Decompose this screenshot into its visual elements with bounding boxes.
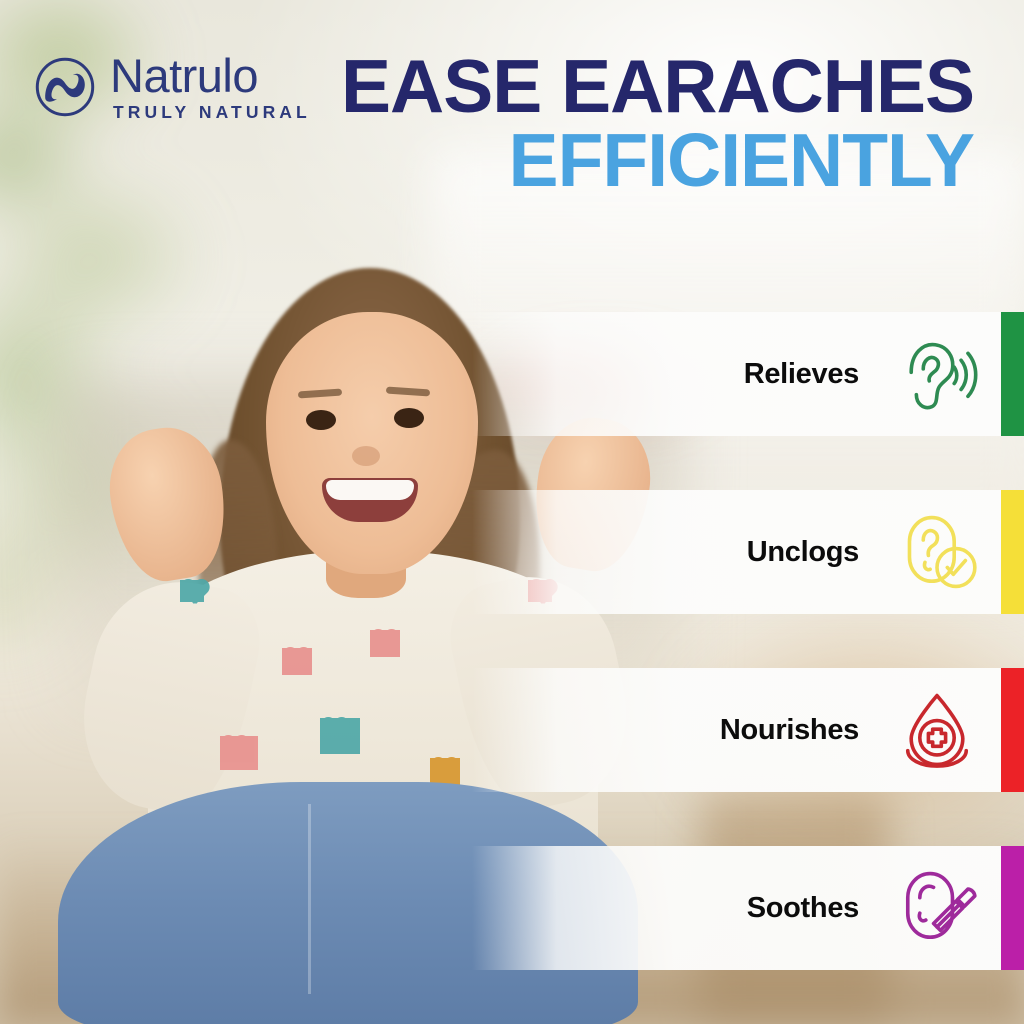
feature-label: Soothes [747,892,859,925]
feature-accent-bar [1001,312,1024,436]
feature-list: Relieves Unclogs [0,0,1024,1024]
feature-label: Unclogs [747,536,859,569]
droplet-with-medical-cross-icon [894,687,980,773]
ear-with-checkmark-icon [894,509,980,595]
ear-with-dropper-icon [894,865,980,951]
feature-label: Nourishes [720,714,859,747]
promo-poster: Natrulo TRULY NATURAL EASE EARACHES EFFI… [0,0,1024,1024]
feature-row-soothes[interactable]: Soothes [472,846,1024,970]
ear-with-sound-waves-icon [894,331,980,417]
feature-accent-bar [1001,490,1024,614]
feature-row-unclogs[interactable]: Unclogs [472,490,1024,614]
feature-row-nourishes[interactable]: Nourishes [472,668,1024,792]
feature-row-relieves[interactable]: Relieves [472,312,1024,436]
feature-accent-bar [1001,668,1024,792]
feature-accent-bar [1001,846,1024,970]
feature-label: Relieves [744,358,859,391]
